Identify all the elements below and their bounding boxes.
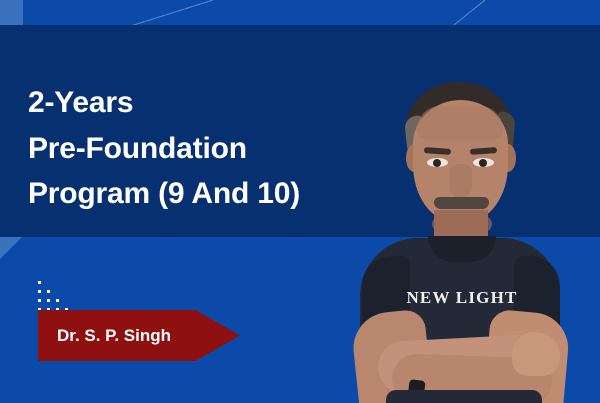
eye-left bbox=[427, 158, 448, 167]
dot bbox=[47, 290, 50, 293]
presenter-name-label: Dr. S. P. Singh bbox=[38, 326, 171, 346]
dot bbox=[38, 299, 41, 302]
presenter-photo: NEW LIGHT bbox=[300, 60, 600, 403]
triangle-decoration-lower-left bbox=[0, 237, 22, 259]
moustache bbox=[434, 197, 489, 209]
tshirt-waist bbox=[386, 390, 542, 403]
dot bbox=[38, 281, 41, 284]
forehead-shading bbox=[417, 106, 503, 140]
nose bbox=[450, 164, 472, 198]
presenter-name-banner: Dr. S. P. Singh bbox=[38, 310, 240, 361]
dot bbox=[47, 299, 50, 302]
course-promo-banner: 2-Years Pre-Foundation Program (9 And 10… bbox=[0, 0, 600, 403]
dot bbox=[38, 290, 41, 293]
hand bbox=[512, 332, 560, 376]
eye-right bbox=[473, 158, 494, 167]
tshirt-text: NEW LIGHT bbox=[394, 288, 530, 308]
dot-grid-decoration bbox=[38, 281, 72, 305]
dot bbox=[56, 299, 59, 302]
